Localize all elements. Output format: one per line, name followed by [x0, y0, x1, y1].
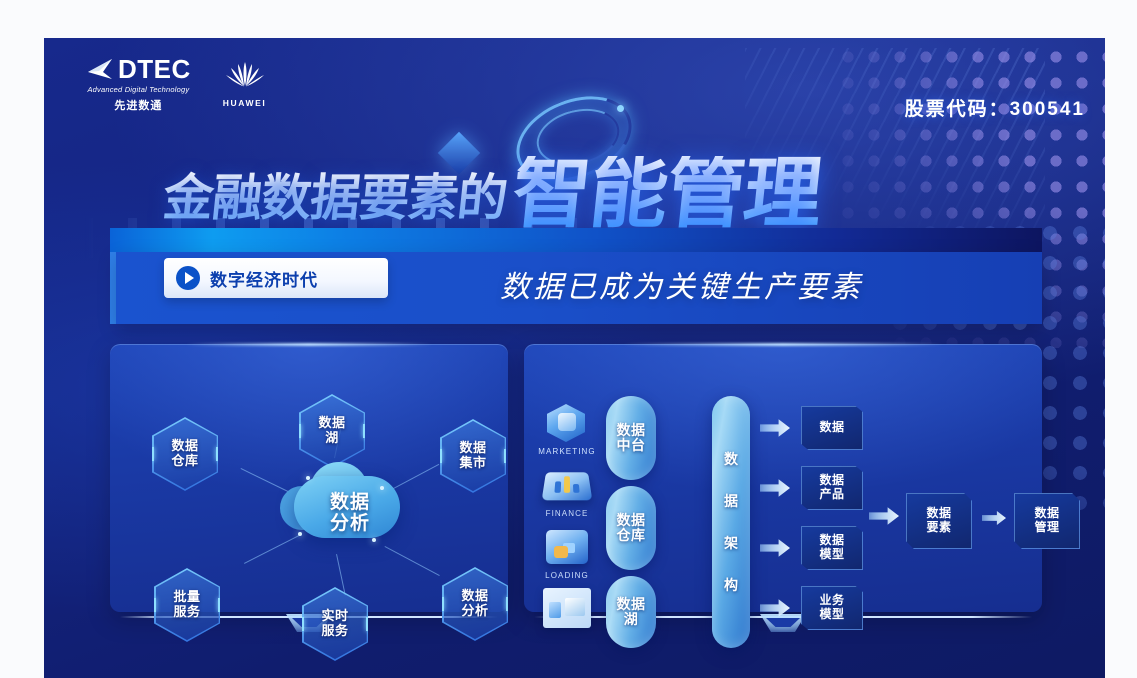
stock-code: 股票代码：300541 [905, 94, 1085, 121]
platform-data-lake[interactable]: 数据 湖 [606, 576, 656, 648]
node-label-line2: 服务 [321, 623, 348, 638]
banner-tag[interactable]: 数字经济时代 [164, 258, 388, 298]
desktop-data-icon [541, 586, 593, 632]
architecture-char: 构 [724, 575, 738, 595]
node-label-line2: 湖 [325, 430, 339, 445]
panel-top-glow [622, 343, 943, 346]
node-label-line2: 服务 [173, 604, 200, 619]
platform-label-line2: 仓库 [617, 527, 646, 543]
output-label-line1: 数据 [819, 473, 844, 487]
stage-data-management[interactable]: 数据 管理 [1014, 493, 1080, 549]
node-label-line1: 批量 [173, 589, 200, 604]
storage-box-icon [541, 524, 593, 570]
title-part-one: 金融数据要素的 [160, 158, 511, 230]
node-label-line1: 数据 [318, 415, 345, 430]
node-label-line1: 实时 [321, 608, 348, 623]
output-data[interactable]: 数据 [801, 406, 863, 450]
dtec-chinese-name: 先进数通 [86, 97, 191, 113]
source-desktop[interactable] [538, 586, 596, 633]
output-label-line1: 业务 [819, 593, 844, 607]
dtec-wordmark: DTEC [118, 56, 191, 82]
node-label-line1: 数据 [459, 440, 486, 455]
stage-label-line1: 数据 [1034, 506, 1059, 520]
output-label-line2: 模型 [819, 607, 844, 621]
chart-tray-icon [541, 462, 593, 508]
output-data-model[interactable]: 数据 模型 [801, 526, 863, 570]
stage-label-line2: 要素 [926, 520, 951, 534]
output-label-line2: 产品 [819, 487, 844, 501]
platform-label-line1: 数据 [617, 596, 646, 612]
panel-top-glow [186, 343, 433, 346]
node-label-line1: 数据 [461, 588, 488, 603]
stage-label-line2: 管理 [1034, 520, 1059, 534]
node-label-line2: 分析 [461, 603, 488, 618]
cube-icon [541, 400, 593, 446]
cloud-label-line2: 分析 [330, 514, 370, 535]
output-label-line1: 数据 [819, 420, 844, 434]
right-diagram-panel [524, 344, 1042, 612]
banner-top-strip [110, 228, 1042, 252]
platform-label-line1: 数据 [617, 422, 646, 438]
presentation-slide: DTEC Advanced Digital Technology 先进数通 HU… [44, 38, 1105, 678]
node-label-line2: 集市 [459, 455, 486, 470]
play-icon [176, 266, 200, 290]
node-label-line1: 数据 [171, 438, 198, 453]
dtec-tagline: Advanced Digital Technology [86, 85, 191, 94]
platform-label-line1: 数据 [617, 512, 646, 528]
stage-data-element[interactable]: 数据 要素 [906, 493, 972, 549]
platform-data-warehouse[interactable]: 数据 仓库 [606, 486, 656, 570]
swirl-dot-icon [617, 105, 624, 112]
page-title: 金融数据要素的 智能管理 [164, 156, 821, 230]
source-label: LOADING [538, 571, 596, 580]
logo-group: DTEC Advanced Digital Technology 先进数通 HU… [86, 56, 266, 113]
huawei-wordmark: HUAWEI [223, 98, 267, 108]
center-cloud[interactable]: 数据 分析 [280, 468, 404, 552]
output-label-line2: 模型 [819, 547, 844, 561]
output-data-product[interactable]: 数据 产品 [801, 466, 863, 510]
platform-label-line2: 中台 [617, 437, 646, 453]
stage-label-line1: 数据 [926, 506, 951, 520]
architecture-char: 数 [724, 449, 738, 469]
cloud-label: 数据 分析 [280, 468, 404, 552]
output-business-model[interactable]: 业务 模型 [801, 586, 863, 630]
node-label-line2: 仓库 [171, 453, 198, 468]
source-label: MARKETING [538, 447, 596, 456]
source-loading[interactable]: LOADING [538, 524, 596, 580]
source-marketing[interactable]: MARKETING [538, 400, 596, 456]
banner-tag-label: 数字经济时代 [210, 266, 318, 291]
output-label-line1: 数据 [819, 533, 844, 547]
banner-headline: 数据已成为关键生产要素 [500, 262, 863, 306]
title-part-two: 智能管理 [509, 156, 825, 230]
architecture-char: 架 [724, 533, 738, 553]
architecture-char: 据 [724, 491, 738, 511]
huawei-logo: HUAWEI [223, 56, 267, 108]
source-label: FINANCE [538, 509, 596, 518]
source-finance[interactable]: FINANCE [538, 462, 596, 518]
cloud-label-line1: 数据 [330, 493, 370, 514]
platform-label-line2: 湖 [624, 611, 639, 627]
data-architecture-column[interactable]: 数 据 架 构 [712, 396, 750, 648]
platform-data-midplatform[interactable]: 数据 中台 [606, 396, 656, 480]
dtec-logo: DTEC Advanced Digital Technology 先进数通 [86, 56, 191, 113]
panel-chevron-icon [760, 614, 806, 632]
section-banner: 数字经济时代 数据已成为关键生产要素 [110, 228, 1042, 328]
huawei-flower-icon [224, 58, 266, 90]
dtec-arrow-icon [86, 56, 116, 82]
